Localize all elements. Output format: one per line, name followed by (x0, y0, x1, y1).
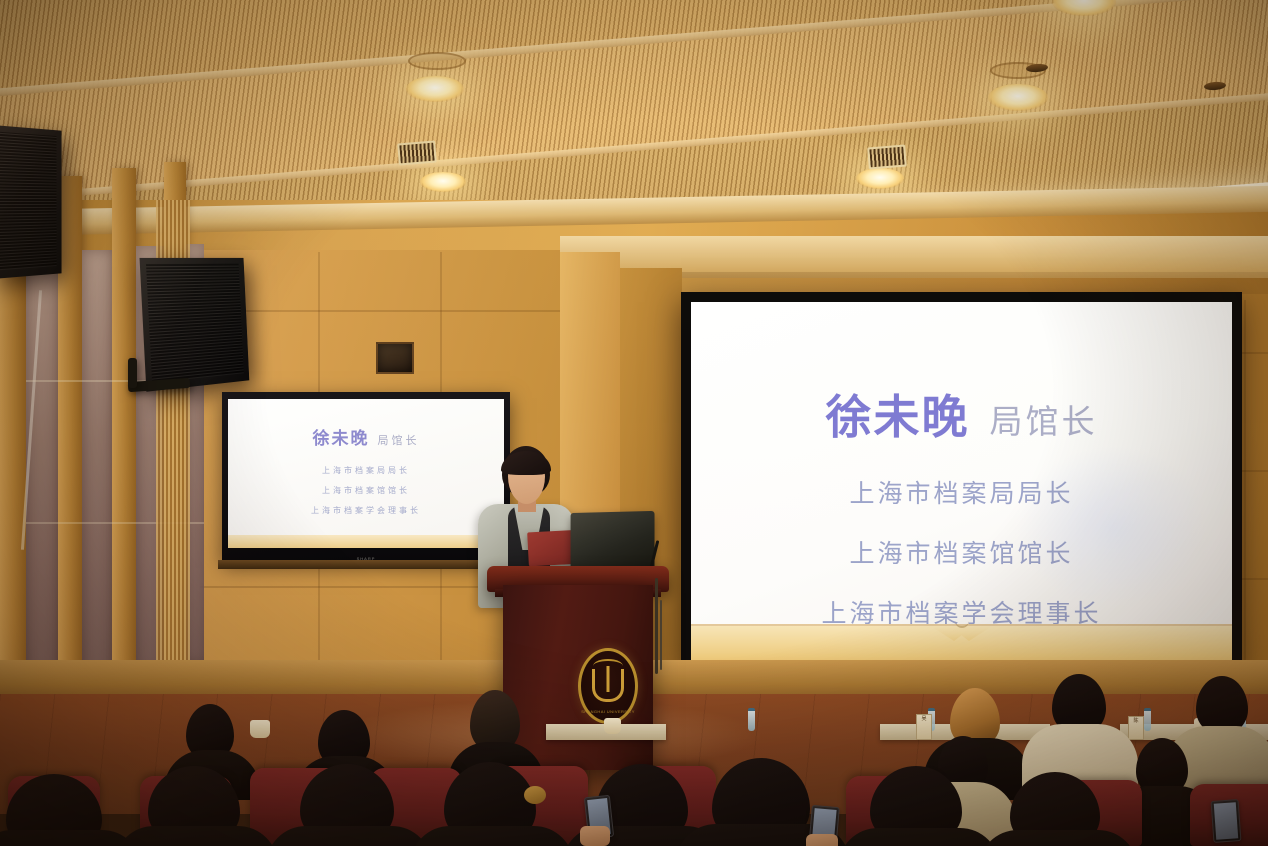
tv-speaker-role: 局馆长 (378, 432, 420, 448)
tv-title-line: 上海市档案学会理事长 (311, 505, 421, 516)
ceiling-fixture-ring (408, 52, 466, 70)
tv-title-line: 上海市档案馆馆长 (322, 485, 410, 496)
wall-pilaster (58, 176, 82, 686)
slide-title-row: 徐未晚 局馆长 (691, 381, 1232, 447)
ceiling-downlight (856, 168, 904, 189)
wall-glass-panel (82, 250, 112, 675)
ceiling-downlight (406, 76, 464, 102)
audience-hand (806, 834, 838, 846)
wall-mounted-projector (376, 342, 414, 374)
tv-slide-title-row: 徐未晚 局馆长 (228, 424, 504, 449)
podium-cable (655, 578, 658, 674)
name-placard: 陈 (1128, 716, 1144, 740)
audience-shoulders (266, 826, 432, 846)
secondary-display-monitor: 徐未晚 局馆长 上海市档案局局长 上海市档案馆馆长 上海市档案学会理事长 SHA… (222, 392, 510, 562)
wall-seam (200, 310, 560, 312)
audience-phone (1211, 799, 1242, 843)
name-placard: 吴 (916, 714, 932, 740)
audience: 吴 陈 (0, 680, 1268, 846)
slide-speaker-name: 徐未晚 (826, 381, 970, 447)
tea-cup (604, 718, 621, 734)
wall-loudspeaker (140, 258, 250, 392)
audience-shoulders (978, 830, 1138, 846)
audience-hair-bun (524, 786, 546, 804)
projection-screen-frame: 徐未晚 局馆长 上海市档案局局长 上海市档案馆馆长 上海市档案学会理事长 (681, 292, 1242, 670)
podium-cable (660, 600, 662, 670)
wall-seam-vertical (1244, 300, 1246, 660)
speaker-grille (146, 264, 244, 383)
slide-title-line: 上海市档案馆馆长 (849, 534, 1073, 570)
tv-title-line: 上海市档案局局长 (322, 465, 410, 476)
tv-speaker-name: 徐未晚 (313, 424, 370, 449)
slide-title-line: 上海市档案局局长 (849, 474, 1073, 510)
water-bottle (748, 708, 755, 731)
wall-pilaster (112, 168, 136, 686)
water-bottle (1144, 708, 1151, 731)
presentation-photo: 徐未晚 局馆长 上海市档案局局长 上海市档案馆馆长 上海市档案学会理事长 SHA… (0, 0, 1268, 846)
audience-shoulders (114, 826, 278, 846)
ceiling-downlight (420, 172, 466, 192)
slide-footer-band (691, 624, 1232, 660)
podium-laptop (571, 511, 655, 571)
ceiling-downlight (988, 84, 1048, 111)
slide-title-list: 上海市档案局局长 上海市档案馆馆长 上海市档案学会理事长 (691, 474, 1232, 630)
speaker-mount-post (128, 358, 137, 388)
slide-footer-ornament (931, 626, 993, 641)
wall-glass-panel (26, 255, 58, 675)
phone-screen (1214, 802, 1238, 839)
audience-shoulders (838, 828, 1000, 846)
speaker-grille (0, 132, 56, 270)
tv-slide-footer-band (228, 535, 504, 548)
projection-screen-slide: 徐未晚 局馆长 上海市档案局局长 上海市档案馆馆长 上海市档案学会理事长 (691, 302, 1232, 660)
audience-hand (580, 826, 610, 846)
tea-cup (250, 720, 270, 738)
wall-loudspeaker (0, 125, 62, 279)
audience-shoulders (410, 826, 574, 846)
secondary-display-slide: 徐未晚 局馆长 上海市档案局局长 上海市档案馆馆长 上海市档案学会理事长 (228, 399, 504, 548)
slide-speaker-role: 局馆长 (990, 395, 1098, 443)
ceiling-air-vent (397, 141, 437, 166)
ceiling-air-vent (867, 145, 907, 170)
tv-slide-titles: 上海市档案局局长 上海市档案馆馆长 上海市档案学会理事长 (228, 465, 504, 516)
